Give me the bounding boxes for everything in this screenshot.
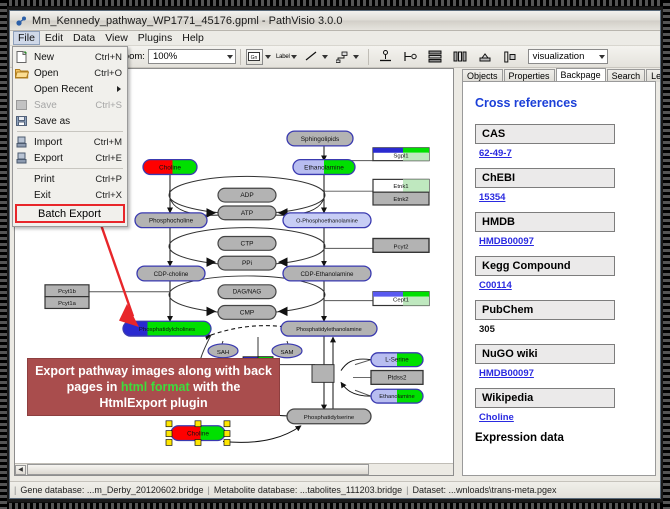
save-disabled-icon — [15, 99, 30, 112]
xref-pubchem-header: PubChem — [475, 300, 615, 320]
svg-text:Gn: Gn — [251, 55, 258, 61]
file-menu-dropdown[interactable]: New Ctrl+N Open Ctrl+O Open Recent Save — [12, 46, 128, 227]
order-tool-button[interactable] — [477, 49, 494, 65]
screenshot-root: Mm_Kennedy_pathway_WP1771_45176.gpml - P… — [0, 0, 670, 509]
cross-references-title: Cross references — [475, 96, 643, 110]
group-tool-button[interactable] — [502, 49, 519, 65]
xref-hmdb-value-wrap: HMDB00097 — [475, 232, 643, 247]
file-menu-export[interactable]: Export Ctrl+E — [13, 150, 127, 166]
callout-highlight: html format — [121, 380, 190, 394]
svg-text:Pcyt2: Pcyt2 — [394, 244, 409, 250]
file-menu-save-shortcut: Ctrl+S — [95, 100, 127, 111]
interaction-dropdown-icon[interactable] — [353, 55, 359, 59]
file-menu-separator-1 — [17, 131, 123, 132]
submenu-arrow-icon — [117, 86, 121, 92]
file-menu-open-recent[interactable]: Open Recent — [13, 81, 127, 97]
svg-text:Phosphatidylcholines: Phosphatidylcholines — [139, 327, 195, 333]
geneproduct-tool-button[interactable]: Gn — [246, 49, 263, 65]
file-menu-import-label: Import — [34, 137, 94, 148]
xref-nugo-value-wrap: HMDB00097 — [475, 364, 643, 379]
canvas-hscrollbar[interactable]: ◀ — [15, 463, 453, 475]
file-menu-new-shortcut: Ctrl+N — [95, 52, 127, 63]
new-document-icon — [15, 51, 30, 64]
xref-wikipedia-value-wrap: Choline — [475, 408, 643, 423]
svg-text:Sphingolipids: Sphingolipids — [301, 136, 340, 143]
file-menu-exit-label: Exit — [34, 190, 95, 201]
open-recent-spacer-icon — [15, 83, 30, 96]
zoom-value: 100% — [153, 51, 177, 62]
svg-text:Phosphatidylethanolamine: Phosphatidylethanolamine — [296, 327, 362, 333]
pathvisio-icon — [15, 15, 27, 27]
file-menu-export-shortcut: Ctrl+E — [95, 153, 127, 164]
xref-chebi-value-wrap: 15354 — [475, 188, 643, 203]
callout-line-3: HtmlExport plugin — [99, 396, 207, 410]
xref-hmdb-link[interactable]: HMDB00097 — [479, 236, 534, 247]
svg-text:CMP: CMP — [240, 309, 254, 316]
file-menu-print-shortcut: Ctrl+P — [95, 174, 127, 185]
hscroll-thumb[interactable] — [27, 464, 369, 475]
pathvisio-window: Mm_Kennedy_pathway_WP1771_45176.gpml - P… — [9, 10, 661, 499]
svg-text:Pcyt1a: Pcyt1a — [58, 301, 77, 307]
visualization-value: visualization — [533, 51, 585, 62]
file-menu-import-shortcut: Ctrl+M — [94, 137, 127, 148]
svg-text:Etnk1: Etnk1 — [393, 184, 409, 190]
visualization-combobox[interactable]: visualization — [528, 49, 608, 64]
menu-data[interactable]: Data — [68, 31, 100, 45]
xref-kegg-link[interactable]: C00114 — [479, 280, 512, 291]
callout-line-1: Export pathway images along with back — [35, 364, 272, 378]
menu-file[interactable]: File — [13, 31, 40, 45]
svg-text:Phosphocholine: Phosphocholine — [149, 218, 194, 225]
file-menu-new[interactable]: New Ctrl+N — [13, 49, 127, 65]
distribute-tool-button[interactable] — [452, 49, 469, 65]
xref-chebi-link[interactable]: 15354 — [479, 192, 505, 203]
xref-pubchem-value: 305 — [475, 320, 643, 335]
svg-text:SAH: SAH — [217, 350, 229, 356]
xref-hmdb: HMDB HMDB00097 — [475, 212, 643, 247]
xref-wikipedia: Wikipedia Choline — [475, 388, 643, 423]
xref-cas-header: CAS — [475, 124, 615, 144]
export-icon — [15, 152, 30, 165]
side-panel: Objects Properties Backpage Search Legen… — [458, 68, 656, 476]
geneproduct-dropdown-icon[interactable] — [265, 55, 271, 59]
label-dropdown-icon[interactable] — [291, 55, 297, 59]
xref-chebi: ChEBI 15354 — [475, 168, 643, 203]
xref-kegg-header: Kegg Compound — [475, 256, 615, 276]
svg-text:Phosphatidylserine: Phosphatidylserine — [304, 415, 355, 421]
line-tool-button[interactable] — [303, 49, 320, 65]
interaction-tool-button[interactable] — [334, 49, 351, 65]
file-menu-open-shortcut: Ctrl+O — [94, 68, 127, 79]
toolbar-divider-2 — [368, 49, 369, 65]
xref-cas: CAS 62-49-7 — [475, 124, 643, 159]
status-dataset: Dataset: ...wnloads\trans-meta.pgex — [408, 485, 560, 495]
file-menu-batch-export-label: Batch Export — [38, 208, 123, 220]
file-menu-save: Save Ctrl+S — [13, 97, 127, 113]
file-menu-save-as-label: Save as — [34, 116, 122, 127]
status-metabolite-database: Metabolite database: ...tabolites_111203… — [210, 485, 406, 495]
svg-text:ADP: ADP — [240, 192, 253, 199]
file-menu-separator-2 — [17, 168, 123, 169]
xref-kegg-value-wrap: C00114 — [475, 276, 643, 291]
svg-text:SAM: SAM — [281, 350, 294, 356]
import-icon — [15, 136, 30, 149]
annotation-callout: Export pathway images along with back pa… — [27, 358, 280, 416]
file-menu-export-label: Export — [34, 153, 95, 164]
chevron-down-icon — [227, 55, 233, 59]
xref-hmdb-header: HMDB — [475, 212, 615, 232]
svg-text:Choline: Choline — [187, 431, 209, 438]
svg-text:Sgpl1: Sgpl1 — [393, 154, 409, 160]
svg-text:Cept1: Cept1 — [393, 298, 410, 304]
menu-help[interactable]: Help — [177, 31, 209, 45]
xref-chebi-header: ChEBI — [475, 168, 615, 188]
file-menu-new-label: New — [34, 52, 95, 63]
xref-nugo: NuGO wiki HMDB00097 — [475, 344, 643, 379]
file-menu-import[interactable]: Import Ctrl+M — [13, 134, 127, 150]
callout-line-2b: with the — [190, 380, 241, 394]
batch-export-spacer-icon — [19, 207, 34, 220]
toolbar-divider — [240, 49, 241, 65]
menu-plugins[interactable]: Plugins — [133, 31, 177, 45]
folder-open-icon — [15, 67, 30, 80]
xref-nugo-header: NuGO wiki — [475, 344, 615, 364]
svg-text:DAG/NAG: DAG/NAG — [233, 289, 262, 296]
zoom-combobox[interactable]: 100% — [148, 49, 236, 64]
svg-text:Choline: Choline — [159, 165, 181, 172]
expression-data-title: Expression data — [475, 432, 643, 444]
svg-text:ATP: ATP — [241, 210, 253, 217]
file-menu-batch-export[interactable]: Batch Export — [15, 204, 125, 223]
svg-text:Ethanolamine: Ethanolamine — [304, 165, 344, 172]
svg-text:Pcyt1b: Pcyt1b — [58, 289, 76, 295]
svg-text:PPi: PPi — [242, 260, 252, 267]
file-menu-open[interactable]: Open Ctrl+O — [13, 65, 127, 81]
svg-text:CTP: CTP — [241, 240, 254, 247]
label-tool-button[interactable]: Label — [276, 54, 290, 60]
svg-text:L-Serine: L-Serine — [385, 357, 409, 364]
status-gene-database: Gene database: ...m_Derby_20120602.bridg… — [16, 485, 207, 495]
menu-view[interactable]: View — [100, 31, 133, 45]
file-menu-open-label: Open — [34, 68, 94, 79]
file-menu-print-label: Print — [34, 174, 95, 185]
scroll-left-button[interactable]: ◀ — [15, 465, 26, 475]
svg-text:Etnk2: Etnk2 — [393, 197, 408, 203]
xref-wikipedia-header: Wikipedia — [475, 388, 615, 408]
align-tool-button[interactable] — [377, 49, 394, 65]
menu-edit[interactable]: Edit — [40, 31, 68, 45]
svg-text:CDP-choline: CDP-choline — [154, 271, 189, 278]
file-menu-save-label: Save — [34, 100, 95, 111]
xref-wikipedia-link[interactable]: Choline — [479, 412, 514, 423]
chevron-down-icon-2 — [599, 55, 605, 59]
xref-pubchem: PubChem 305 — [475, 300, 643, 335]
callout-line-2a: pages in — [67, 380, 121, 394]
file-menu-save-as[interactable]: Save as — [13, 113, 127, 129]
print-spacer-icon — [15, 173, 30, 186]
file-menu-exit-shortcut: Ctrl+X — [95, 190, 127, 201]
svg-text:O-Phosphoethanolamine: O-Phosphoethanolamine — [296, 219, 358, 225]
file-menu-print[interactable]: Print Ctrl+P — [13, 171, 127, 187]
exit-spacer-icon — [15, 189, 30, 202]
file-menu-open-recent-label: Open Recent — [34, 84, 117, 95]
status-bar: | Gene database: ...m_Derby_20120602.bri… — [10, 481, 660, 498]
xref-cas-value-wrap: 62-49-7 — [475, 144, 643, 159]
title-bar: Mm_Kennedy_pathway_WP1771_45176.gpml - P… — [10, 11, 660, 31]
window-title: Mm_Kennedy_pathway_WP1771_45176.gpml - P… — [32, 15, 342, 27]
xref-nugo-link[interactable]: HMDB00097 — [479, 368, 534, 379]
save-as-icon — [15, 115, 30, 128]
svg-text:Ethanolamine: Ethanolamine — [379, 394, 414, 400]
stack-tool-button[interactable] — [427, 49, 444, 65]
side-panel-tabs: Objects Properties Backpage Search Legen… — [462, 68, 656, 82]
menu-bar: File Edit Data View Plugins Help — [10, 31, 660, 46]
anchor-tool-button[interactable] — [402, 49, 419, 65]
svg-text:CDP-Ethanolamine: CDP-Ethanolamine — [301, 271, 355, 278]
svg-text:Ptdss2: Ptdss2 — [388, 374, 407, 381]
backpage-content: Cross references CAS 62-49-7 ChEBI 15354… — [462, 81, 656, 476]
xref-kegg: Kegg Compound C00114 — [475, 256, 643, 291]
file-menu-exit[interactable]: Exit Ctrl+X — [13, 187, 127, 203]
xref-cas-link[interactable]: 62-49-7 — [479, 148, 512, 159]
tab-backpage[interactable]: Backpage — [556, 68, 606, 82]
line-dropdown-icon[interactable] — [322, 55, 328, 59]
